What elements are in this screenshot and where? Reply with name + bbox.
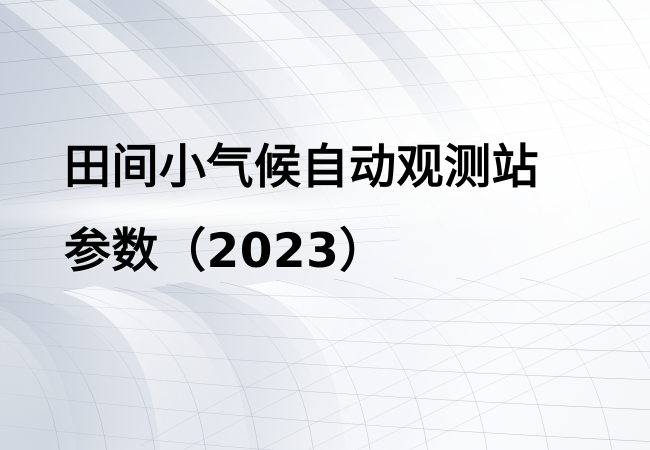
title-line-1: 田间小气候自动观测站 xyxy=(64,126,624,210)
lower-wave-bands xyxy=(0,280,436,450)
title-line-2: 参数（2023） xyxy=(64,210,624,294)
page-title: 田间小气候自动观测站 参数（2023） xyxy=(64,126,624,294)
title-slide: 田间小气候自动观测站 参数（2023） xyxy=(0,0,650,450)
